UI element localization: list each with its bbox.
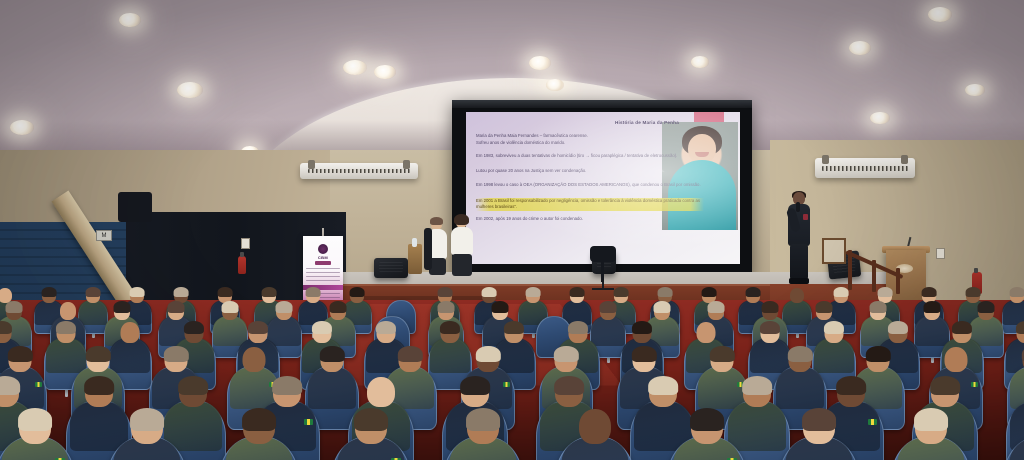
panelist-chair-1 — [424, 228, 432, 270]
banner-chip — [315, 261, 331, 265]
audience-member-hair — [690, 408, 724, 431]
audience-member-hair — [788, 346, 812, 363]
empty-stage-chair — [590, 246, 616, 262]
officer-boots — [789, 278, 809, 284]
audience-member-hair — [922, 287, 937, 297]
audience-member-hair — [632, 346, 656, 363]
audience-member-hair — [56, 321, 76, 335]
audience-member-hair — [802, 408, 836, 431]
audience-member-hair — [437, 301, 454, 313]
audience-member-hair — [86, 346, 110, 363]
stair-post-2 — [872, 260, 876, 292]
slide-line-7: Em 2002, após 19 anos do crime o autor f… — [476, 216, 708, 222]
audience-member-hair — [648, 376, 678, 396]
audience-member-hair — [1010, 287, 1024, 297]
presentation-slide: História de Maria da Penha Maria da Penh… — [466, 112, 740, 264]
audience-member-hair — [329, 301, 346, 313]
ceiling-light-11 — [691, 56, 709, 67]
audience-member-hair — [653, 301, 670, 313]
audience-member-shoulders — [1009, 437, 1024, 460]
audience-member-hair — [570, 287, 585, 297]
audience-member-hair — [178, 376, 208, 396]
audience-member — [561, 409, 628, 460]
audience-member-hair — [0, 321, 12, 335]
ceiling-light-7 — [374, 65, 396, 79]
audience-member-hair — [221, 301, 238, 313]
audience-member — [449, 409, 516, 460]
audience-member-hair — [262, 287, 277, 297]
audience-member-hair — [242, 408, 276, 431]
audience-member-hair — [888, 321, 908, 335]
audience-member-head — [790, 288, 804, 303]
audience-member-hair — [84, 376, 114, 396]
audience-member-hair — [354, 408, 388, 431]
audience-member-head — [121, 322, 140, 343]
audience-member-head — [945, 347, 968, 372]
audience-member-hair — [0, 376, 20, 396]
audience-member-hair — [113, 301, 130, 313]
wall-picture-frame — [822, 238, 846, 264]
audience-member-hair — [184, 321, 204, 335]
audience-member — [673, 409, 740, 460]
audience-member-hair — [526, 287, 541, 297]
audience-member-hair — [742, 376, 772, 396]
audience-member — [337, 409, 404, 460]
ceiling-light-10 — [546, 79, 564, 90]
audience-member — [785, 409, 852, 460]
audience-member-hair — [440, 321, 460, 335]
side-table — [408, 244, 422, 274]
audience-member-hair — [707, 301, 724, 313]
brazilian-flag-patch — [304, 419, 313, 425]
fire-extinguisher-left — [238, 256, 246, 274]
officer-legs — [790, 244, 808, 280]
audience-member-hair — [398, 346, 422, 363]
panelist-2 — [450, 216, 474, 278]
slide-line-1: Maria da Penha Maia Fernandes – farmacêu… — [476, 133, 708, 139]
audience-member-hair — [869, 301, 886, 313]
empty-stage-chair-leg — [601, 262, 604, 282]
audience-member-hair — [272, 376, 302, 396]
audience-member-hair — [761, 301, 778, 313]
audience-member-hair — [164, 346, 188, 363]
audience-member-head — [243, 347, 266, 372]
audience-member-hair — [42, 287, 57, 297]
ceiling-light-6 — [343, 60, 367, 75]
audience-member-hair — [923, 301, 940, 313]
slide-line-5: Em 1998 levou o caso à OEA (ORGANIZAÇÃO … — [476, 182, 704, 188]
ceiling-light-14 — [928, 7, 952, 22]
audience-member-hair — [275, 301, 292, 313]
ceiling-light-9 — [529, 56, 551, 70]
audience-member-hair — [504, 321, 524, 335]
air-conditioner-right — [815, 158, 915, 178]
audience-member-head — [697, 322, 716, 343]
audience-member-hair — [1016, 321, 1024, 335]
audience-member-hair — [632, 321, 652, 335]
audience-member-hair — [866, 346, 890, 363]
auditorium-scene: M História de Maria da Penha Maria da Pe… — [0, 0, 1024, 460]
audience-member-hair — [167, 301, 184, 313]
audience-member-hair — [554, 376, 584, 396]
banner-org-name: CBM — [303, 255, 343, 260]
audience-member-hair — [460, 376, 490, 396]
audience-member-hair — [491, 301, 508, 313]
audience-member — [225, 409, 292, 460]
audience-member-hair — [130, 408, 164, 431]
ceiling-light-3 — [177, 82, 203, 98]
slide-line-4: Lutou por quase 20 anos na Justiça sem v… — [476, 168, 708, 174]
audience-member-hair — [599, 301, 616, 313]
slide-title: História de Maria da Penha — [572, 120, 722, 125]
audience-member-hair — [350, 287, 365, 297]
audience-member — [1, 409, 68, 460]
slide-line-3: Em 1983, sobreviveu a duas tentativas de… — [476, 153, 708, 159]
stair-post-1 — [848, 250, 852, 290]
audience-member-hair — [130, 287, 145, 297]
officer-shoulder-patch — [803, 214, 808, 220]
audience-member-hair — [658, 287, 673, 297]
audience-member-hair — [702, 287, 717, 297]
audience-member-hair — [306, 287, 321, 297]
stage-monitor-speaker-left — [374, 258, 408, 278]
microphone-icon — [796, 202, 800, 212]
ceiling-light-2 — [119, 13, 141, 27]
audience-member-hair — [18, 408, 52, 431]
audience-member-hair — [930, 376, 960, 396]
audience-member-hair — [952, 321, 972, 335]
audience-member-hair — [86, 287, 101, 297]
slide-line-6-highlighted: Em 2001 a Brasil foi responsabilizado po… — [476, 198, 704, 211]
audience-member-hair — [710, 346, 734, 363]
water-bottle — [412, 238, 417, 247]
speaker-officer — [786, 192, 812, 284]
audience-member-hair — [466, 408, 500, 431]
audience-member-hair — [554, 346, 578, 363]
audience-member-hair — [218, 287, 233, 297]
ceiling-light-1 — [10, 120, 34, 135]
wall-switch-box-left[interactable] — [241, 238, 250, 249]
audience-member — [897, 409, 964, 460]
air-conditioner-left — [300, 163, 418, 179]
screen-top-bar — [452, 100, 752, 108]
audience-member-hair — [320, 346, 344, 363]
beam-bracket — [118, 192, 152, 222]
audience-member-head — [60, 302, 76, 320]
audience-member-hair — [746, 287, 761, 297]
audience-member-head — [579, 409, 611, 444]
audience-member-hair — [476, 346, 500, 363]
audience-member-hair — [438, 287, 453, 297]
ceiling-light-12 — [849, 41, 871, 55]
audience-member-hair — [815, 301, 832, 313]
audience-member-hair — [760, 321, 780, 335]
audience-member-hair — [878, 287, 893, 297]
audience-member-hair — [376, 321, 396, 335]
brazilian-flag-patch — [868, 419, 877, 425]
audience-member-hair — [8, 346, 32, 363]
banner-logo-icon — [318, 244, 328, 254]
audience-member-hair — [568, 321, 588, 335]
wall-switch-box-right[interactable] — [936, 248, 945, 259]
audience-member-hair — [914, 408, 948, 431]
audience-member-hair — [977, 301, 994, 313]
slide-line-2: Sofreu anos de violência doméstica do ma… — [476, 140, 708, 146]
audience-member — [1009, 409, 1024, 460]
audience-member-hair — [824, 321, 844, 335]
audience-member-hair — [836, 376, 866, 396]
audience-member-hair — [482, 287, 497, 297]
audience-member-hair — [248, 321, 268, 335]
audience-member-hair — [174, 287, 189, 297]
brazilian-flag-patch — [35, 382, 42, 387]
exit-sign: M — [96, 230, 112, 241]
audience-member-hair — [834, 287, 849, 297]
audience-member-hair — [312, 321, 332, 335]
audience-member — [113, 409, 180, 460]
audience-member-hair — [966, 287, 981, 297]
audience-member-hair — [5, 301, 22, 313]
audience-member-head — [367, 377, 395, 407]
audience-member-hair — [614, 287, 629, 297]
